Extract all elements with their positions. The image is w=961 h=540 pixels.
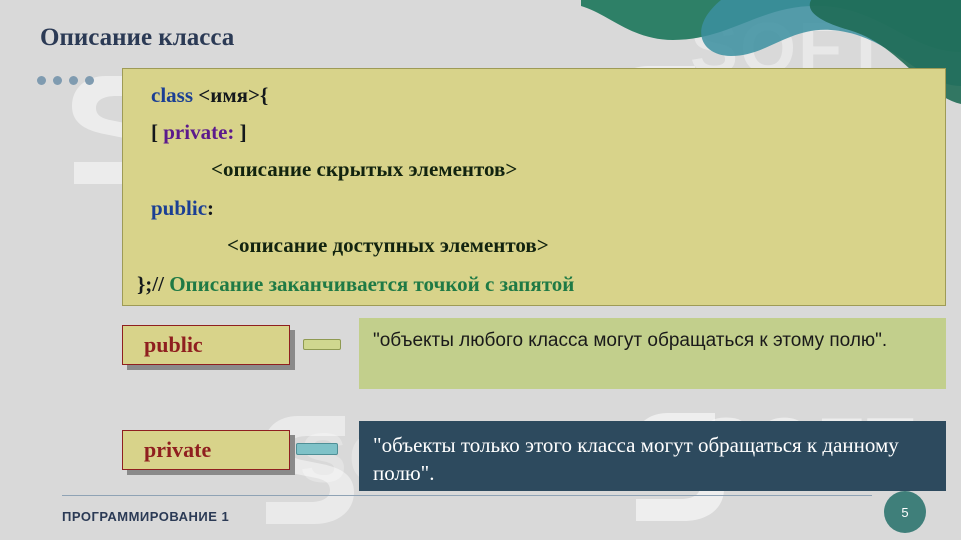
keyword-public: public — [151, 196, 207, 220]
code-line-6: };// Описание заканчивается точкой с зап… — [137, 272, 574, 297]
private-keyword-chip[interactable]: private — [122, 430, 290, 470]
bullet-dot — [85, 76, 94, 85]
bullet-dots — [37, 76, 94, 85]
private-connector-dash — [296, 443, 338, 455]
colon-public: : — [207, 196, 214, 220]
code-line-4: public: — [151, 196, 214, 221]
code-comment: Описание заканчивается точкой с запятой — [169, 272, 574, 296]
bullet-dot — [53, 76, 62, 85]
code-terminator: };// — [137, 272, 169, 296]
public-connector-dash — [303, 339, 341, 350]
bullet-dot — [37, 76, 46, 85]
footer-divider — [62, 495, 872, 496]
code-line-3: <описание скрытых элементов> — [211, 157, 517, 182]
footer-label: ПРОГРАММИРОВАНИЕ 1 — [62, 509, 229, 524]
private-description-note: "объекты только этого класса могут обращ… — [359, 421, 946, 491]
public-keyword-chip[interactable]: public — [122, 325, 290, 365]
code-line-5: <описание доступных элементов> — [227, 233, 549, 258]
code-line-1: class <имя>{ — [151, 83, 268, 108]
public-description-note: "объекты любого класса могут обращаться … — [359, 318, 946, 389]
bracket-close: ] — [234, 120, 246, 144]
keyword-class: class — [151, 83, 193, 107]
code-line-2: [ private: ] — [151, 120, 247, 145]
page-number-badge: 5 — [884, 491, 926, 533]
code-line-1-rest: <имя>{ — [193, 83, 268, 107]
class-declaration-code-box: class <имя>{ [ private: ] <описание скры… — [122, 68, 946, 306]
keyword-private: private: — [163, 120, 234, 144]
bracket-open: [ — [151, 120, 163, 144]
page-title: Описание класса — [40, 24, 234, 52]
bullet-dot — [69, 76, 78, 85]
